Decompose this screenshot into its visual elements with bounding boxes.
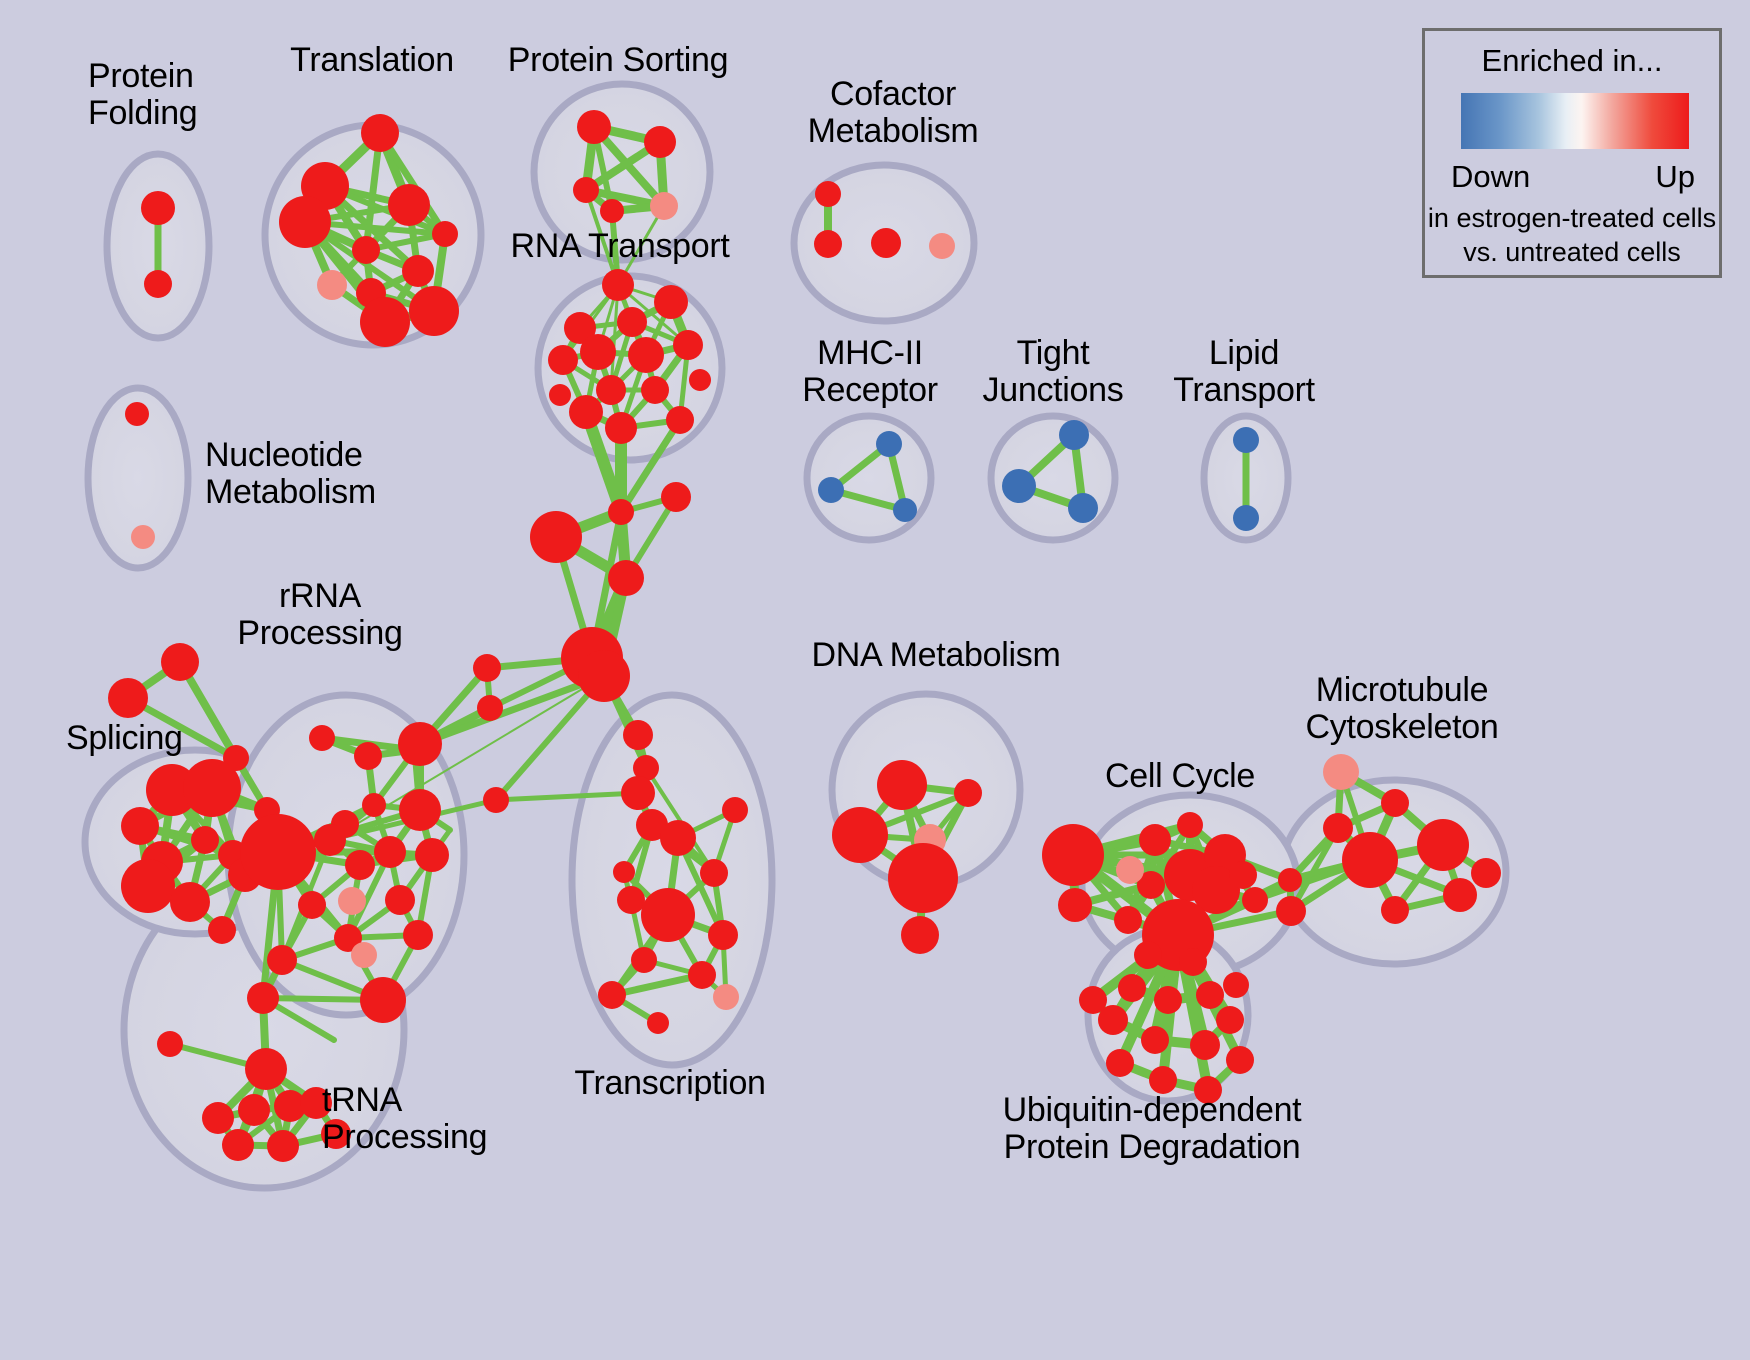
- cluster-label-mhc-ii-receptor: MHC-II Receptor: [802, 335, 938, 408]
- cluster-label-protein-sorting: Protein Sorting: [508, 42, 728, 79]
- legend-color-gradient-bar: [1461, 93, 1689, 149]
- cluster-label-protein-folding: Protein Folding: [88, 58, 197, 131]
- figure-canvas: .hull{fill:url(#cg);stroke:#a9a9c4;strok…: [0, 0, 1750, 1360]
- cluster-label-dna-metabolism: DNA Metabolism: [812, 637, 1061, 674]
- cluster-label-splicing: Splicing: [66, 720, 183, 757]
- cluster-label-nucleotide-metabolism: Nucleotide Metabolism: [205, 437, 376, 510]
- cluster-label-translation: Translation: [290, 42, 454, 79]
- cluster-label-rna-transport: RNA Transport: [510, 228, 729, 265]
- cluster-label-trna-processing: tRNA Processing: [322, 1082, 487, 1155]
- legend-caption-line-2: vs. untreated cells: [1425, 237, 1719, 268]
- cluster-label-ubiquitin-protein-degradation: Ubiquitin-dependent Protein Degradation: [1003, 1092, 1302, 1165]
- cluster-label-transcription: Transcription: [574, 1065, 765, 1102]
- legend-caption-line-1: in estrogen-treated cells: [1425, 203, 1719, 234]
- cluster-label-rrna-processing: rRNA Processing: [237, 578, 402, 651]
- cluster-label-microtubule-cytoskeleton: Microtubule Cytoskeleton: [1306, 672, 1499, 745]
- legend-box: Enriched in... Down Up in estrogen-treat…: [1422, 28, 1722, 278]
- legend-down-label: Down: [1451, 159, 1530, 195]
- cluster-label-tight-junctions: Tight Junctions: [983, 335, 1124, 408]
- hull-mhc-ii-receptor: [807, 416, 931, 540]
- cluster-label-lipid-transport: Lipid Transport: [1173, 335, 1315, 408]
- legend-title: Enriched in...: [1425, 43, 1719, 79]
- legend-up-label: Up: [1655, 159, 1695, 195]
- cluster-label-cell-cycle: Cell Cycle: [1105, 758, 1255, 795]
- cluster-label-cofactor-metabolism: Cofactor Metabolism: [808, 76, 979, 149]
